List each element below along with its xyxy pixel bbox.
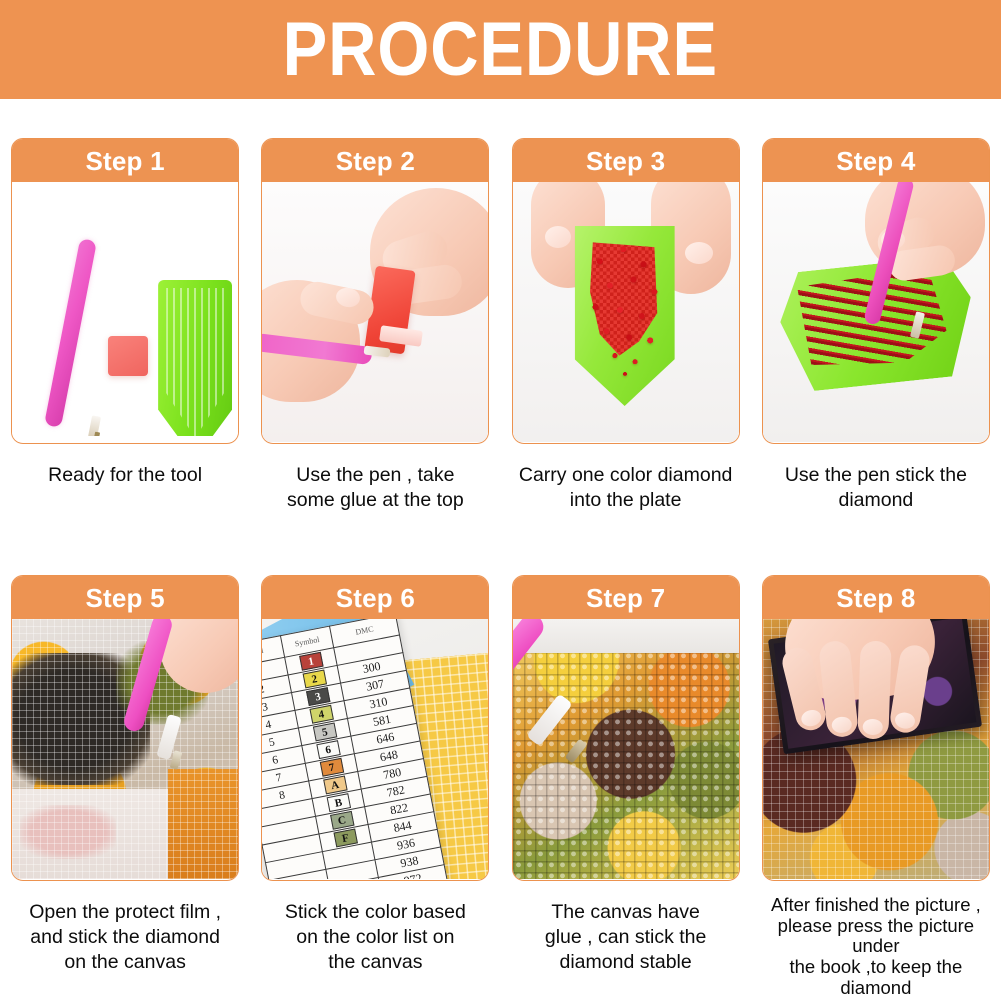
fingernail — [685, 242, 713, 264]
glue-square-icon — [108, 336, 148, 376]
step-badge-5: Step 5 — [12, 576, 238, 619]
step-card-3[interactable]: Step 3 — [512, 138, 740, 444]
step-caption-2: Use the pen , take some glue at the top — [257, 463, 493, 513]
step-badge-6: Step 6 — [262, 576, 488, 619]
finger — [857, 640, 891, 739]
step-cell-2: Step 2 — [250, 138, 500, 513]
step-image-6: Serial Symbol DMC 1122300333074431055581… — [262, 619, 488, 879]
fingernail — [894, 711, 916, 730]
step-caption-4: Use the pen stick the diamond — [758, 463, 994, 513]
page-title: PROCEDURE — [283, 12, 718, 88]
step-badge-3: Step 3 — [513, 139, 739, 182]
step-card-2[interactable]: Step 2 — [261, 138, 489, 444]
step-cell-5: Step 5 — [0, 575, 250, 1001]
step-card-5[interactable]: Step 5 — [11, 575, 239, 881]
steps-row-top: Step 1 Ready for the tool — [0, 138, 1001, 513]
step-image-8 — [763, 619, 989, 879]
fingernail — [862, 719, 883, 736]
fingernail — [799, 708, 822, 728]
step-cell-1: Step 1 Ready for the tool — [0, 138, 250, 513]
step-badge-2: Step 2 — [262, 139, 488, 182]
step-card-4[interactable]: Step 4 — [762, 138, 990, 444]
procedure-infographic: PROCEDURE Step 1 Rea — [0, 0, 1001, 1001]
step-cell-8: Step 8 After fi — [751, 575, 1001, 1001]
blank-canvas-strip — [513, 619, 739, 653]
step-image-1 — [12, 182, 238, 442]
steps-row-bottom: Step 5 — [0, 575, 1001, 1001]
step-card-1[interactable]: Step 1 — [11, 138, 239, 444]
fingernail — [545, 226, 571, 248]
step-badge-1: Step 1 — [12, 139, 238, 182]
step-image-2 — [262, 182, 488, 442]
step-image-7 — [513, 619, 739, 879]
step-caption-8: After finished the picture , please pres… — [754, 895, 998, 1001]
step-caption-1: Ready for the tool — [7, 463, 243, 488]
step-image-3 — [513, 182, 739, 442]
step-card-6[interactable]: Step 6 Serial Symbol — [261, 575, 489, 881]
page-header: PROCEDURE — [0, 0, 1001, 99]
round-bead-overlay — [513, 619, 739, 879]
step-caption-3: Carry one color diamond into the plate — [508, 463, 744, 513]
step-cell-3: Step 3 Carry one color diamond into the … — [501, 138, 751, 513]
step-badge-4: Step 4 — [763, 139, 989, 182]
step-image-5 — [12, 619, 238, 879]
step-cell-6: Step 6 Serial Symbol — [250, 575, 500, 1001]
step-caption-7: The canvas have glue , can stick the dia… — [508, 900, 744, 975]
step-badge-7: Step 7 — [513, 576, 739, 619]
step-badge-8: Step 8 — [763, 576, 989, 619]
step-caption-5: Open the protect film , and stick the di… — [7, 900, 243, 975]
red-diamond-scatter — [583, 234, 667, 386]
fingernail — [831, 716, 853, 734]
step-cell-7: Step 7 The canvas have glue , can stick … — [501, 575, 751, 1001]
step-caption-6: Stick the color based on the color list … — [257, 900, 493, 975]
step-card-7[interactable]: Step 7 — [512, 575, 740, 881]
step-cell-4: Step 4 Use the pen stick the d — [751, 138, 1001, 513]
step-image-4 — [763, 182, 989, 442]
step-card-8[interactable]: Step 8 — [762, 575, 990, 881]
pen-nib-icon — [93, 432, 100, 436]
